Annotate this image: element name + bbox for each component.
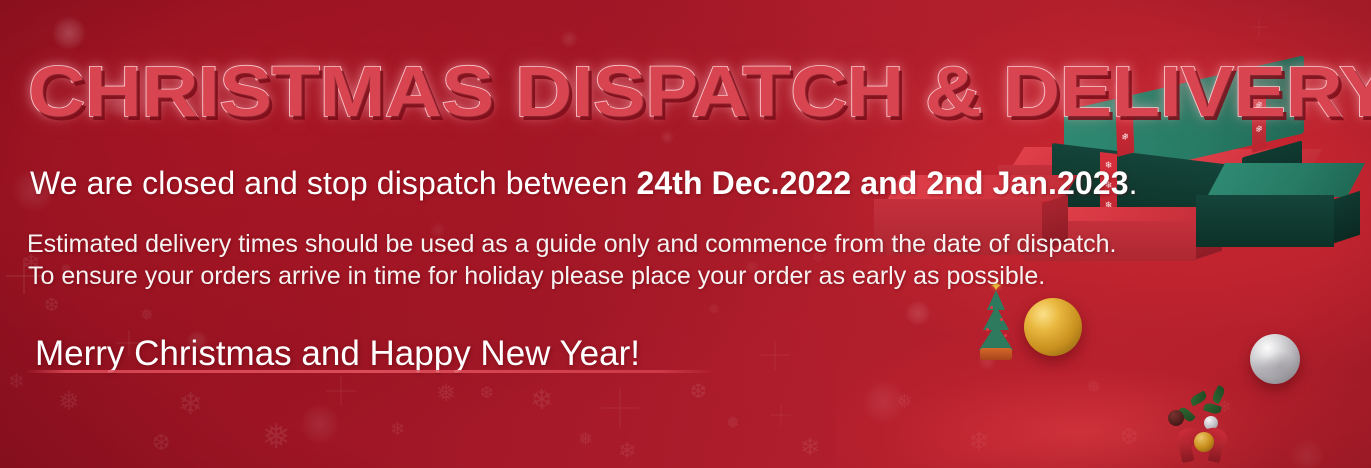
bokeh-dot bbox=[660, 130, 674, 144]
snowflake-icon: ❆ bbox=[690, 382, 707, 402]
gold-ornament-icon bbox=[1024, 298, 1082, 356]
snowflake-icon: ❅ bbox=[578, 430, 593, 448]
sparkle-icon bbox=[326, 376, 356, 406]
snowflake-icon: ❆ bbox=[44, 296, 59, 314]
snowflake-icon: ❅ bbox=[726, 416, 739, 432]
snowflake-icon: ❄ bbox=[800, 436, 820, 460]
tree-base bbox=[980, 348, 1012, 360]
snowflake-icon: ❅ bbox=[262, 420, 291, 454]
sparkle-icon bbox=[770, 404, 792, 426]
delivery-guidance-line-1: Estimated delivery times should be used … bbox=[27, 228, 1117, 260]
snowflake-icon: ❄ bbox=[618, 440, 636, 462]
snowflake-icon: ❄ bbox=[178, 390, 203, 420]
snowflake-icon: ❄ bbox=[530, 386, 553, 414]
page-title: CHRISTMAS DISPATCH & DELIVERY bbox=[28, 56, 1371, 130]
snowflake-icon: ❅ bbox=[708, 302, 720, 316]
sparkle-icon bbox=[760, 340, 790, 370]
dispatch-notice-suffix: . bbox=[1129, 165, 1138, 201]
snowflake-icon: ❅ bbox=[58, 388, 80, 414]
dispatch-notice-prefix: We are closed and stop dispatch between bbox=[30, 165, 636, 201]
bokeh-dot bbox=[300, 404, 340, 444]
dispatch-dates: 24th Dec.2022 and 2nd Jan.2023 bbox=[636, 165, 1128, 201]
sparkle-icon bbox=[600, 388, 640, 428]
christmas-dispatch-banner: ❄ ❅ ❆ ❅ ❄ ❅ ❄ ❆ ❅ ❄ ❅ ❆ ❄ ❅ ❄ ❆ ❅ ❄ ❅ ❄ … bbox=[0, 0, 1371, 468]
bauble-icon bbox=[1168, 410, 1184, 426]
snowflake-icon: ❅ bbox=[436, 382, 456, 406]
delivery-guidance: Estimated delivery times should be used … bbox=[27, 228, 1117, 292]
snowflake-icon: ❅ bbox=[140, 308, 153, 324]
holly-leaf-icon bbox=[1203, 402, 1222, 416]
snowflake-icon: ❄ bbox=[8, 372, 25, 392]
silver-ornament-icon bbox=[1250, 334, 1300, 384]
holly-bow-decoration bbox=[1166, 388, 1256, 458]
gift-scene: ✦ ❄ bbox=[866, 263, 1371, 468]
bokeh-dot bbox=[52, 16, 86, 50]
greeting-block: Merry Christmas and Happy New Year! bbox=[25, 331, 725, 379]
gold-bauble-icon bbox=[1194, 432, 1214, 452]
snowflake-icon: ❆ bbox=[480, 386, 493, 402]
sparkle-icon bbox=[1250, 18, 1268, 36]
bokeh-dot bbox=[560, 30, 578, 48]
snowflake-icon: ❄ bbox=[390, 420, 405, 438]
dispatch-notice: We are closed and stop dispatch between … bbox=[30, 163, 1138, 203]
holly-leaf-icon bbox=[1211, 385, 1227, 404]
mini-tree-icon: ✦ bbox=[974, 286, 1018, 360]
delivery-guidance-line-2: To ensure your orders arrive in time for… bbox=[27, 260, 1117, 292]
snowflake-icon: ❆ bbox=[152, 432, 170, 454]
greeting-underline bbox=[25, 370, 715, 373]
